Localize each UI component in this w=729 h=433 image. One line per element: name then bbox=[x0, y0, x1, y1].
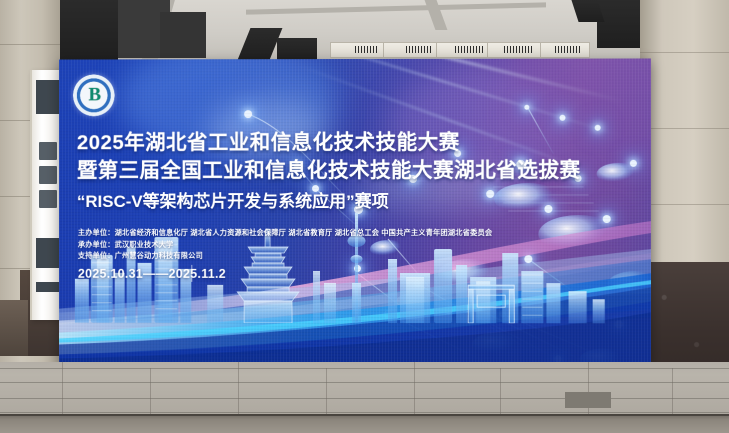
granite-base-left-2 bbox=[0, 300, 28, 356]
banner-title-line-2: 暨第三届全国工业和信息化技术技能大赛湖北省选拔赛 bbox=[77, 153, 581, 183]
wall-poster bbox=[436, 42, 488, 58]
organizer-host: 主办单位：湖北省经济和信息化厅 湖北省人力资源和社会保障厅 湖北省教育厅 湖北省… bbox=[78, 227, 492, 239]
wall-poster bbox=[330, 42, 384, 58]
screenshot-root: B 2025年湖北省工业和信息化技术技能大赛 暨第三届全国工业和信息化技术技能大… bbox=[0, 0, 729, 433]
dark-recess bbox=[58, 0, 118, 60]
wall-poster bbox=[540, 42, 590, 58]
wall-poster bbox=[383, 42, 437, 58]
banner-title-line-1: 2025年湖北省工业和信息化技术技能大赛 bbox=[77, 125, 460, 155]
organizer-supporter: 支持单位：广州慧谷动力科技有限公司 bbox=[78, 250, 492, 262]
dark-recess bbox=[160, 12, 206, 58]
university-logo: B bbox=[73, 74, 115, 116]
dark-paver bbox=[565, 392, 611, 408]
curb-joint-line bbox=[0, 414, 729, 416]
date-divider bbox=[191, 265, 192, 282]
event-backdrop-banner: B 2025年湖北省工业和信息化技术技能大赛 暨第三届全国工业和信息化技术技能大… bbox=[59, 58, 651, 363]
wall-poster bbox=[487, 42, 541, 58]
organizer-block: 主办单位：湖北省经济和信息化厅 湖北省人力资源和社会保障厅 湖北省教育厅 湖北省… bbox=[78, 227, 492, 262]
dark-ledge bbox=[277, 38, 317, 60]
logo-monogram: B bbox=[88, 84, 99, 106]
event-date-range: 2025.10.31——2025.11.2 bbox=[78, 267, 226, 281]
organizer-undertaker: 承办单位：武汉职业技术大学 bbox=[78, 238, 492, 250]
curb-edge bbox=[0, 414, 729, 433]
banner-subtitle-event: “RISC-V等架构芯片开发与系统应用”赛项 bbox=[77, 187, 389, 212]
